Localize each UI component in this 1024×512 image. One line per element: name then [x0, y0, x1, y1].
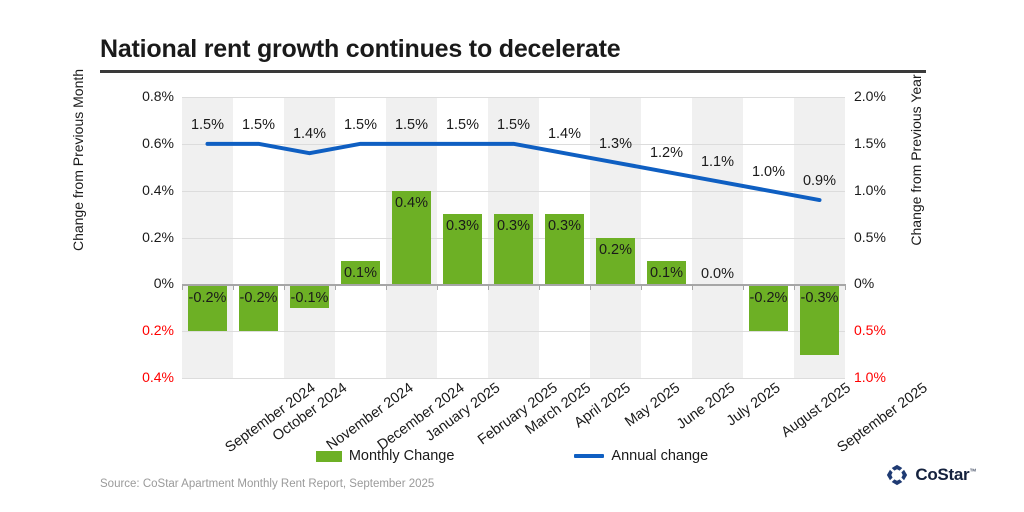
- axis-tick: [488, 284, 489, 290]
- axis-tick: [845, 284, 846, 290]
- axis-tick: [692, 284, 693, 290]
- x-axis-tick-label: August 2025: [778, 380, 853, 441]
- source-note: Source: CoStar Apartment Monthly Rent Re…: [100, 478, 434, 490]
- line-data-label: 1.5%: [191, 117, 224, 133]
- line-data-label: 1.1%: [701, 154, 734, 170]
- left-axis-tick-label: 0.2%: [116, 322, 174, 338]
- line-data-label: 1.0%: [752, 164, 785, 180]
- page-title: National rent growth continues to decele…: [100, 34, 926, 64]
- line-path: [208, 144, 820, 200]
- left-axis-tick-label: 0.4%: [116, 369, 174, 385]
- left-axis-tick-label: 0.6%: [116, 135, 174, 151]
- axis-tick: [284, 284, 285, 290]
- axis-tick: [233, 284, 234, 290]
- right-axis-tick-label: 0%: [854, 275, 912, 291]
- axis-ticks: [182, 284, 845, 290]
- line-series: [182, 97, 845, 378]
- x-axis-tick-label: June 2025: [673, 380, 737, 433]
- line-data-label: 1.5%: [446, 117, 479, 133]
- line-data-label: 0.9%: [803, 173, 836, 189]
- line-data-label: 1.3%: [599, 136, 632, 152]
- right-axis-tick-label: 0.5%: [854, 322, 912, 338]
- line-data-label: 1.5%: [395, 117, 428, 133]
- line-data-label: 1.2%: [650, 145, 683, 161]
- axis-tick: [590, 284, 591, 290]
- left-axis-tick-label: 0.8%: [116, 88, 174, 104]
- axis-tick: [182, 284, 183, 290]
- right-axis-tick-label: 1.5%: [854, 135, 912, 151]
- right-axis-tick-label: 0.5%: [854, 229, 912, 245]
- legend-item[interactable]: Annual change: [574, 448, 708, 464]
- costar-logo: CoStar™: [886, 464, 976, 486]
- title-block: National rent growth continues to decele…: [100, 34, 926, 73]
- legend-item[interactable]: Monthly Change: [316, 448, 455, 464]
- line-data-label: 1.4%: [293, 126, 326, 142]
- left-axis-tick-label: 0.2%: [116, 229, 174, 245]
- axis-tick: [386, 284, 387, 290]
- title-divider: [100, 70, 926, 73]
- gridline: [182, 378, 845, 379]
- left-axis-title: Change from Previous Month: [70, 50, 86, 270]
- line-data-label: 1.4%: [548, 126, 581, 142]
- costar-logo-text: CoStar™: [915, 465, 976, 485]
- left-axis-tick-label: 0%: [116, 275, 174, 291]
- axis-tick: [641, 284, 642, 290]
- axis-tick: [437, 284, 438, 290]
- axis-tick: [794, 284, 795, 290]
- chart-legend: Monthly ChangeAnnual change: [0, 448, 1024, 464]
- axis-tick: [539, 284, 540, 290]
- left-axis-tick-label: 0.4%: [116, 182, 174, 198]
- right-axis-tick-label: 2.0%: [854, 88, 912, 104]
- x-axis-labels: September 2024October 2024November 2024D…: [182, 380, 845, 450]
- right-axis-tick-label: 1.0%: [854, 369, 912, 385]
- right-axis-title: Change from Previous Year: [908, 50, 924, 270]
- x-axis-tick-label: May 2025: [622, 380, 683, 430]
- line-data-label: 1.5%: [242, 117, 275, 133]
- legend-item-label: Annual change: [611, 448, 708, 464]
- legend-line-swatch-icon: [574, 454, 604, 458]
- line-data-label: 1.5%: [497, 117, 530, 133]
- right-axis-tick-label: 1.0%: [854, 182, 912, 198]
- line-data-label: 1.5%: [344, 117, 377, 133]
- legend-bar-swatch-icon: [316, 451, 342, 462]
- axis-tick: [743, 284, 744, 290]
- axis-tick: [335, 284, 336, 290]
- legend-item-label: Monthly Change: [349, 448, 455, 464]
- costar-pinwheel-icon: [886, 464, 908, 486]
- chart-plot-area: -0.2%-0.2%-0.1%0.1%0.4%0.3%0.3%0.3%0.2%0…: [182, 97, 845, 378]
